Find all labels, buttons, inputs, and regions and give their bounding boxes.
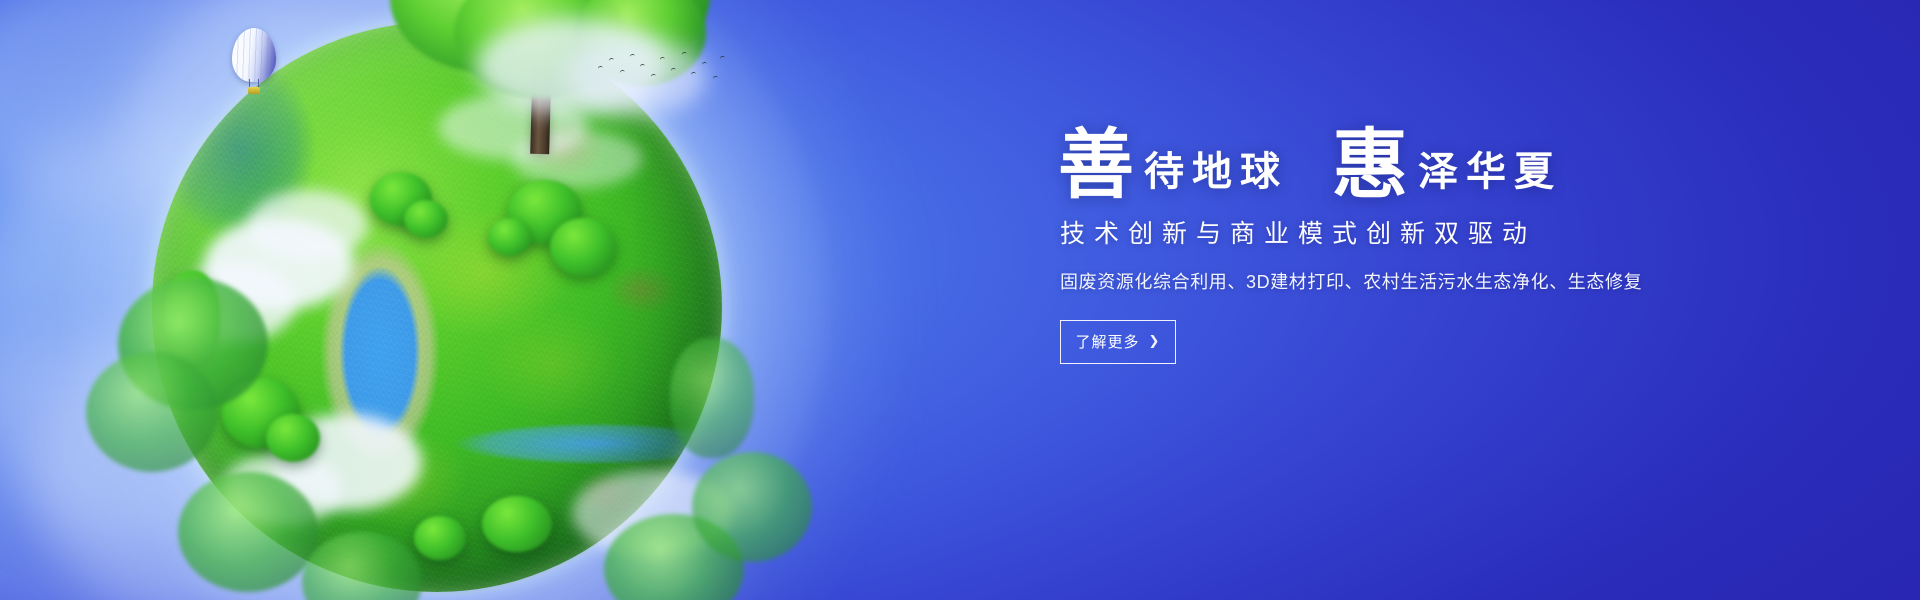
headline-part2-small: 泽华夏 [1408, 152, 1562, 192]
balloon-envelope [232, 28, 276, 82]
edge-tree [670, 338, 754, 458]
bird-icon [702, 62, 708, 68]
green-planet-illustration [152, 22, 722, 592]
shrub-cluster [404, 200, 448, 238]
shrub-cluster [550, 218, 616, 276]
chevron-right-icon: ❯ [1149, 333, 1161, 349]
hero-banner: 善 待地球 惠 泽华夏 技术创新与商业模式创新双驱动 固废资源化综合利用、3D建… [0, 0, 1920, 600]
bird-icon [609, 58, 615, 64]
bird-icon [682, 52, 688, 58]
bird-flock-icon [596, 48, 726, 90]
edge-tree [86, 352, 218, 472]
edge-tree [692, 452, 812, 562]
bird-icon [671, 68, 677, 74]
headline-part2-large: 惠 [1332, 132, 1408, 202]
banner-description: 固废资源化综合利用、3D建材打印、农村生活污水生态净化、生态修复 [1060, 268, 1778, 294]
surface-cloud [248, 190, 368, 260]
bird-icon [660, 57, 666, 63]
shrub-cluster [488, 218, 532, 256]
bird-icon [720, 56, 726, 62]
shrub-cluster [414, 516, 466, 560]
balloon-basket [248, 87, 260, 94]
headline-part1-small: 待地球 [1134, 152, 1288, 192]
bird-icon [640, 64, 646, 70]
learn-more-button[interactable]: 了解更多 ❯ [1060, 320, 1176, 364]
bird-icon [651, 74, 657, 80]
edge-tree [178, 472, 318, 592]
bird-icon [713, 76, 719, 82]
headline: 善 待地球 惠 泽华夏 [1058, 128, 1778, 198]
shrub-cluster [266, 414, 320, 462]
shrub-cluster [482, 496, 552, 552]
bird-icon [691, 72, 697, 78]
headline-part1-large: 善 [1058, 132, 1134, 202]
banner-copy: 善 待地球 惠 泽华夏 技术创新与商业模式创新双驱动 固废资源化综合利用、3D建… [1058, 128, 1778, 364]
banner-subtitle: 技术创新与商业模式创新双驱动 [1060, 214, 1778, 250]
hot-air-balloon-icon [232, 28, 276, 94]
bird-icon [598, 66, 604, 72]
bird-icon [630, 54, 636, 60]
bird-icon [620, 70, 626, 76]
learn-more-label: 了解更多 [1076, 331, 1140, 352]
